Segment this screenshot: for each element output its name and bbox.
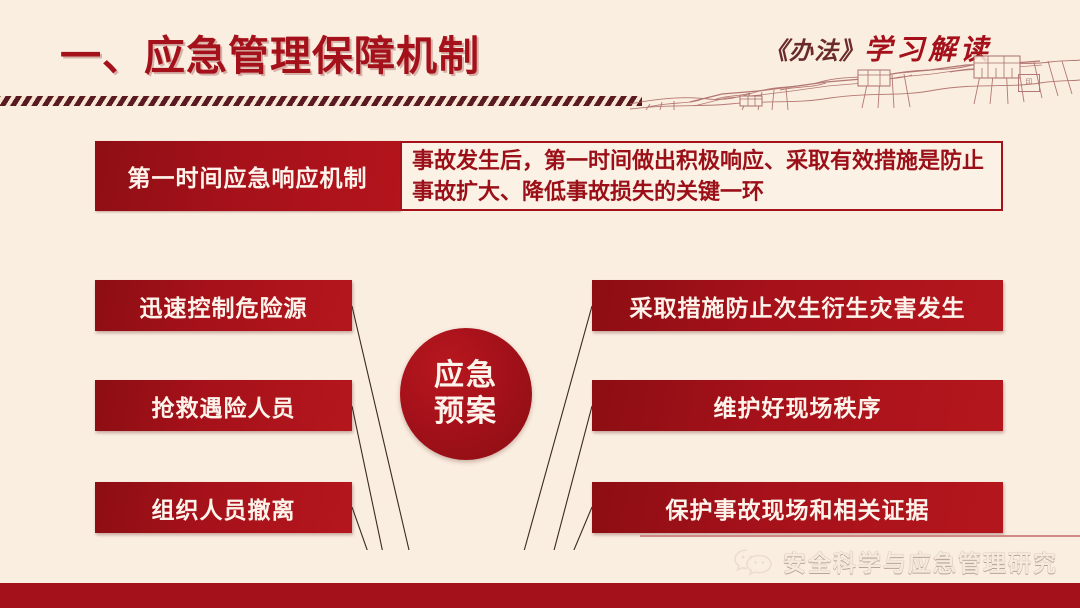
diagram-hub[interactable]: 应急 预案 [400, 328, 532, 460]
diagram-node-left-3[interactable]: 组织人员撤离 [95, 482, 352, 533]
hatched-divider [0, 96, 642, 106]
diagram-hub-line2: 预案 [434, 394, 498, 430]
great-wall-illustration [630, 52, 1080, 112]
diagram-node-right-2[interactable]: 维护好现场秩序 [592, 380, 1003, 431]
first-response-banner: 第一时间应急响应机制 事故发生后，第一时间做出积极响应、采取有效措施是防止事故扩… [95, 141, 1003, 211]
banner-body-text: 事故发生后，第一时间做出积极响应、采取有效措施是防止事故扩大、降低事故损失的关键… [402, 145, 1001, 207]
slide-canvas: 一、应急管理保障机制 《办法》学习解读 [0, 0, 1080, 608]
seal-stamp: 印 [1018, 74, 1040, 92]
page-title: 一、应急管理保障机制 [60, 22, 480, 82]
diagram-node-left-1[interactable]: 迅速控制危险源 [95, 280, 352, 331]
watermark: 安全科学与应急管理研究 [733, 544, 1058, 578]
wechat-icon [733, 546, 773, 576]
footer-hairline [640, 535, 1080, 537]
footer-bar [0, 583, 1080, 608]
banner-label: 第一时间应急响应机制 [95, 141, 400, 211]
emergency-plan-diagram: 迅速控制危险源 抢救遇险人员 组织人员撤离 采取措施防止次生衍生灾害发生 维护好… [0, 240, 1080, 550]
diagram-node-right-1[interactable]: 采取措施防止次生衍生灾害发生 [592, 280, 1003, 331]
diagram-node-left-2[interactable]: 抢救遇险人员 [95, 380, 352, 431]
watermark-label: 安全科学与应急管理研究 [783, 544, 1058, 578]
banner-body: 事故发生后，第一时间做出积极响应、采取有效措施是防止事故扩大、降低事故损失的关键… [400, 141, 1003, 211]
diagram-hub-line1: 应急 [434, 358, 498, 394]
diagram-node-right-3[interactable]: 保护事故现场和相关证据 [592, 482, 1003, 533]
